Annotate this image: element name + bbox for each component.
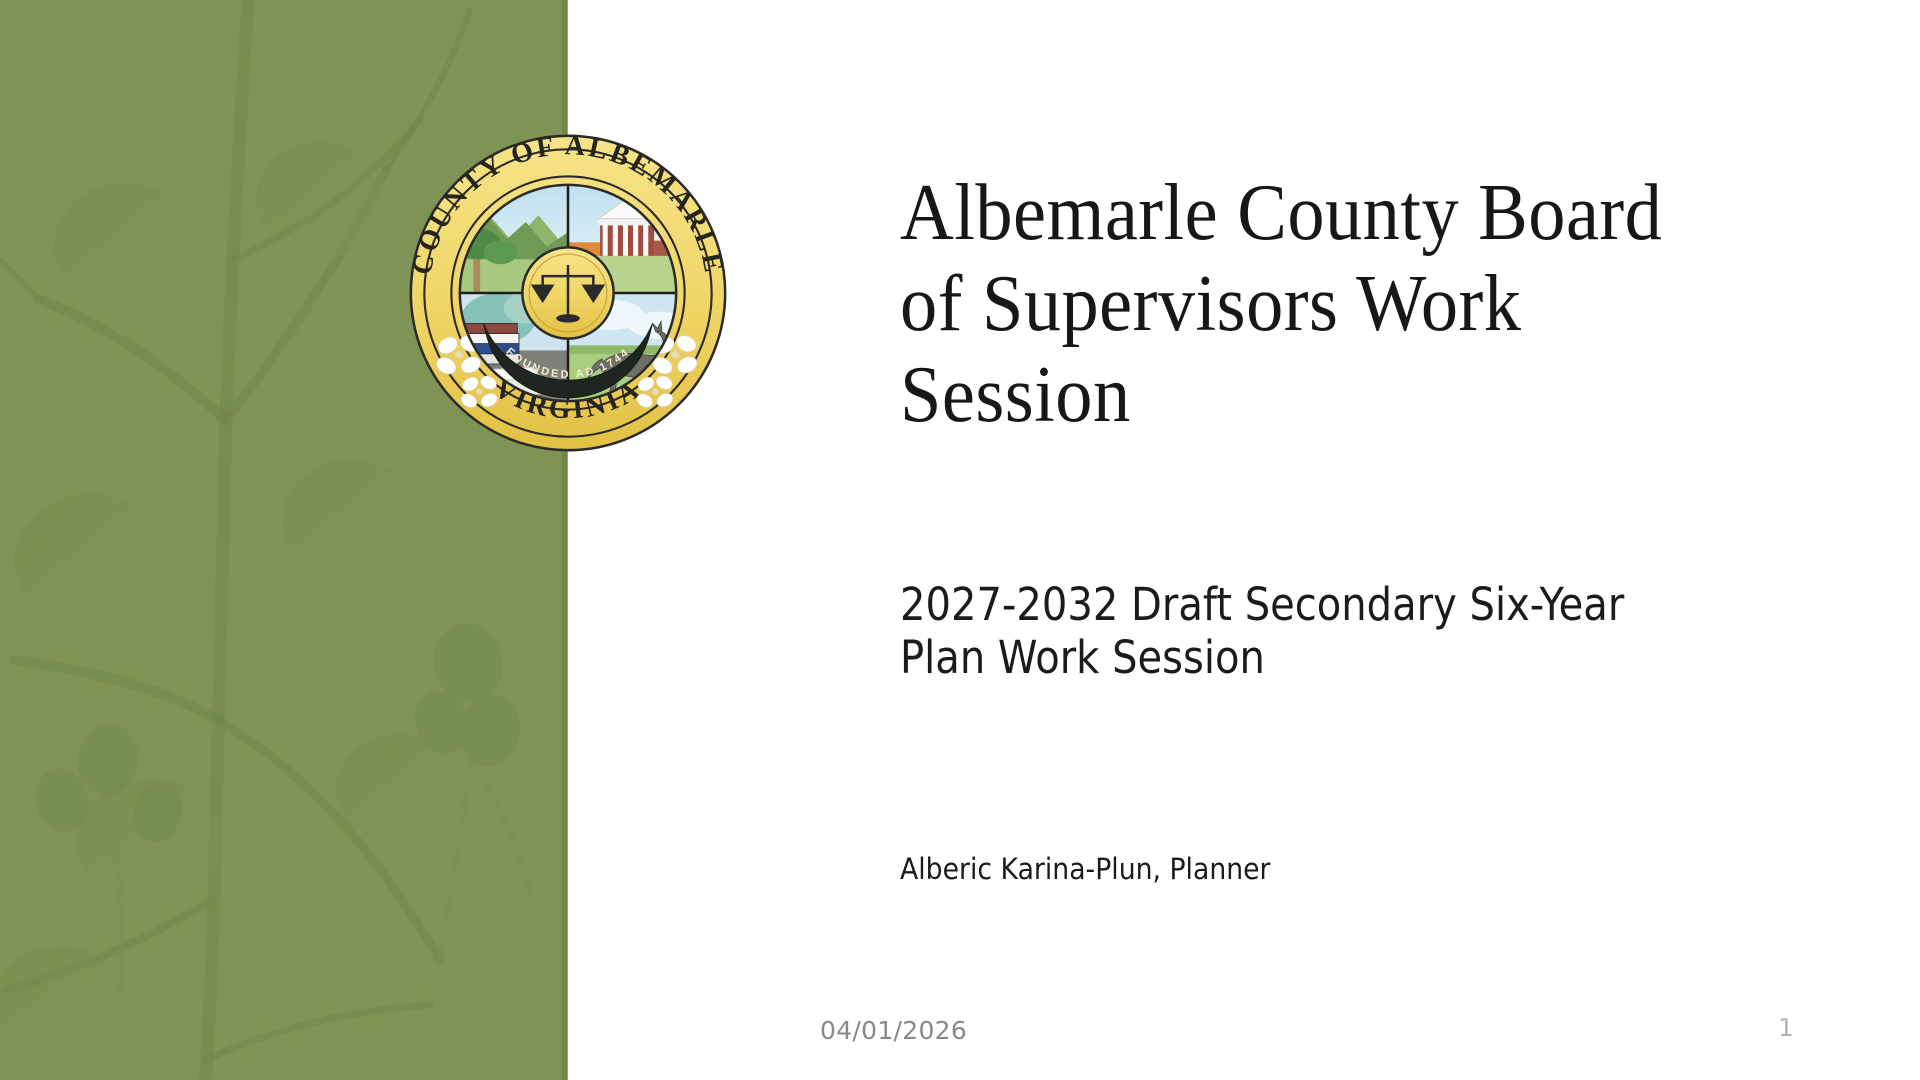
slide-number: 1 [1778, 1013, 1794, 1042]
footer-date: 04/01/2026 [820, 1016, 967, 1045]
scales-of-justice-emblem [522, 247, 613, 338]
albemarle-county-seal: COUNTY OF ALBEMARLE VIRGINIA [399, 124, 737, 462]
slide-title: Albemarle County Board of Supervisors Wo… [900, 168, 1681, 442]
presentation-slide: COUNTY OF ALBEMARLE VIRGINIA [0, 0, 1920, 1080]
slide-content: Albemarle County Board of Supervisors Wo… [900, 0, 1780, 1080]
presenter-name: Alberic Karina-Plun, Planner [900, 851, 1673, 887]
slide-subtitle: 2027-2032 Draft Secondary Six-Year Plan … [900, 578, 1692, 684]
